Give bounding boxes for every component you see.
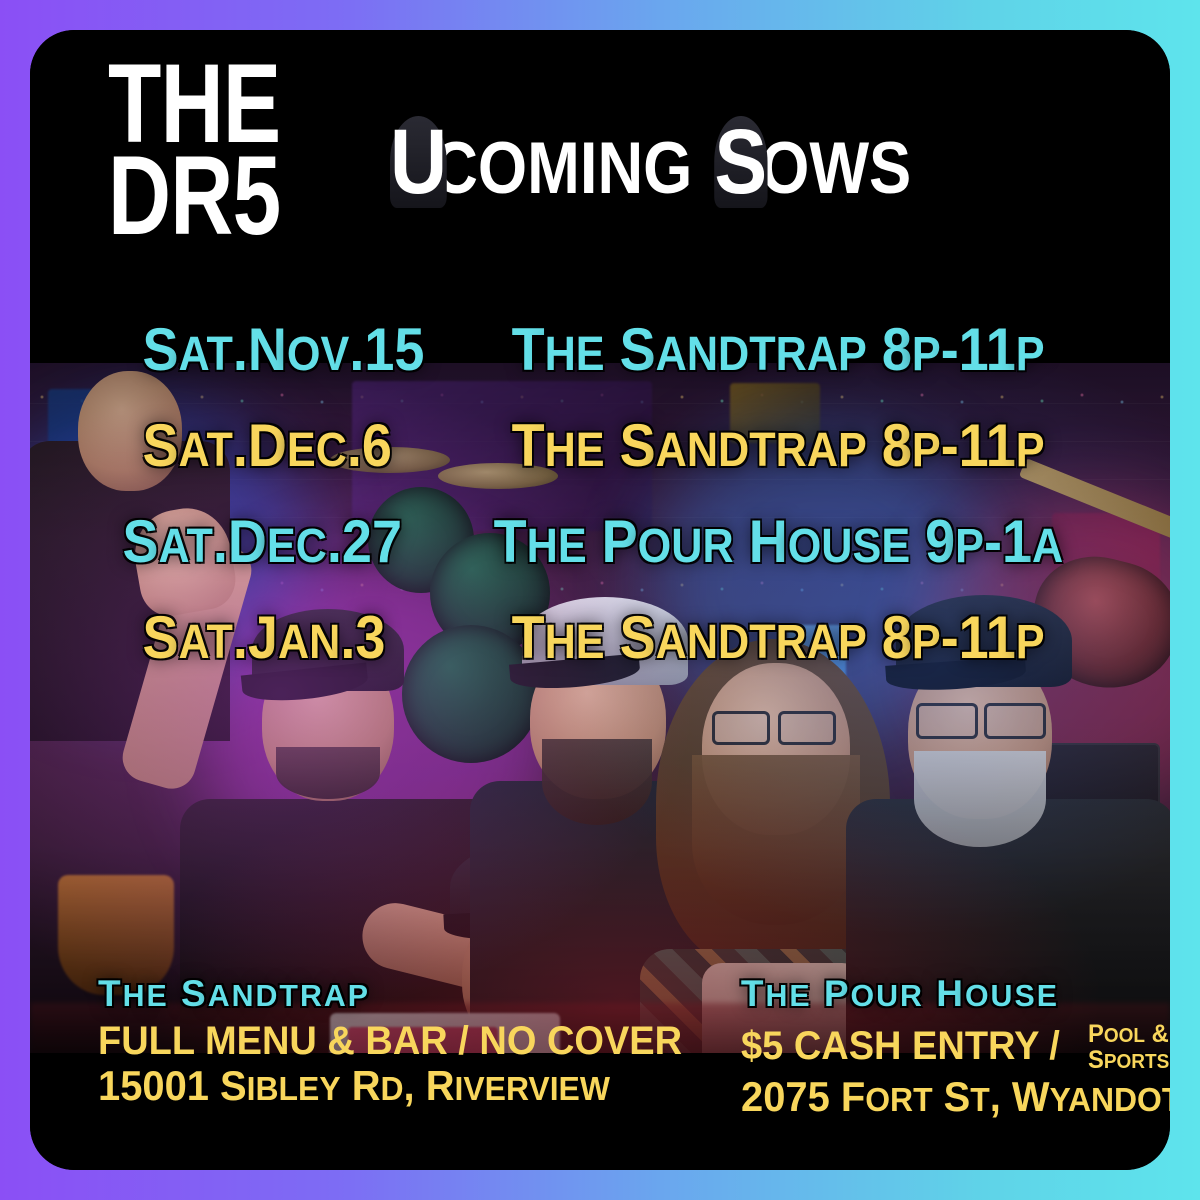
- venue-extra: POOL & DARTS: [1088, 1021, 1170, 1047]
- venue-name: THE SANDTRAP: [98, 975, 713, 1014]
- page-title: UPCOMING SHOWS: [390, 116, 911, 208]
- show-row: SAT.DEC.6 THE SANDTRAP 8P-11P: [86, 416, 1114, 512]
- venue-address: 15001 SIBLEY RD, RIVERVIEW: [98, 1064, 682, 1108]
- venue-card-sandtrap: THE SANDTRAP FULL MENU & BAR / NO COVER …: [98, 975, 713, 1156]
- venue-address: 2075 FORT ST, WYANDOTTE: [741, 1075, 1170, 1119]
- show-date: SAT.DEC.27: [122, 512, 419, 572]
- show-venue: THE POUR HOUSE 9P-1A: [493, 512, 1063, 572]
- poster-header: THE DR5 UPCOMING SHOWS: [30, 30, 1170, 363]
- venue-extra: SPORTS ON TV: [1088, 1047, 1170, 1073]
- show-row: SAT.DEC.27 THE POUR HOUSE 9P-1A: [86, 512, 1114, 608]
- show-row: SAT.JAN.3 THE SANDTRAP 8P-11P: [86, 608, 1114, 704]
- band-logo: THE DR5: [108, 58, 280, 242]
- show-venue: THE SANDTRAP 8P-11P: [512, 608, 1045, 668]
- show-venue: THE SANDTRAP 8P-11P: [512, 416, 1045, 476]
- poster-card: THE DR5 UPCOMING SHOWS SAT.NOV.15 THE SA…: [30, 30, 1170, 1170]
- show-date: SAT.NOV.15: [142, 320, 439, 380]
- show-date: SAT.DEC.6: [142, 416, 439, 476]
- venue-detail: $5 CASH ENTRY /: [741, 1026, 1060, 1067]
- show-list: SAT.NOV.15 THE SANDTRAP 8P-11P SAT.DEC.6…: [30, 320, 1170, 704]
- show-row: SAT.NOV.15 THE SANDTRAP 8P-11P: [86, 320, 1114, 416]
- venue-info: THE SANDTRAP FULL MENU & BAR / NO COVER …: [30, 975, 1170, 1170]
- venue-card-pourhouse: THE POUR HOUSE $5 CASH ENTRY / POOL & DA…: [713, 975, 1170, 1156]
- venue-extras: POOL & DARTS SPORTS ON TV: [1088, 1021, 1170, 1073]
- show-venue: THE SANDTRAP 8P-11P: [512, 320, 1045, 380]
- venue-detail: FULL MENU & BAR / NO COVER: [98, 1021, 682, 1062]
- logo-line-2: DR5: [108, 150, 280, 242]
- show-date: SAT.JAN.3: [142, 608, 439, 668]
- venue-name: THE POUR HOUSE: [741, 975, 1170, 1014]
